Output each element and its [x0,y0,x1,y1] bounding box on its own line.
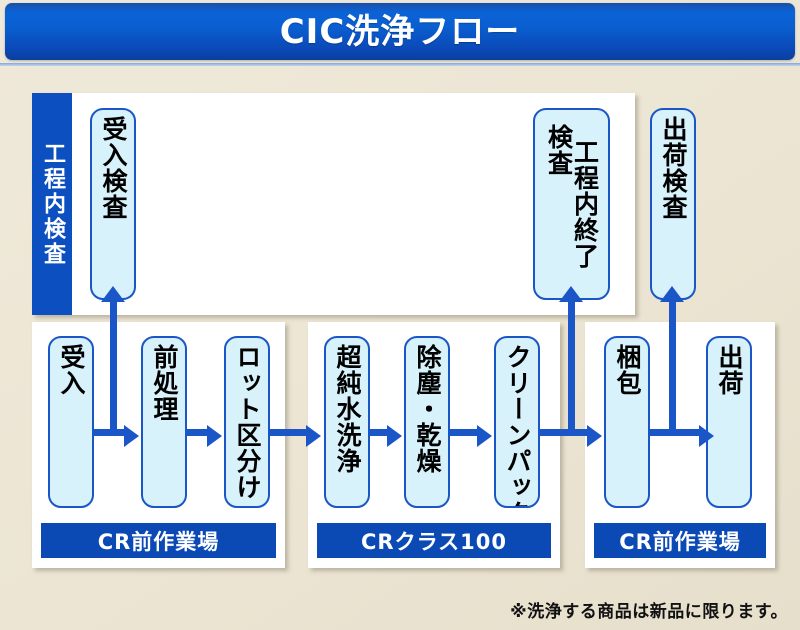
box-process-end-inspection-label-secondary: 検査 [546,110,572,298]
box-clean-pack-label: クリーンパック [504,338,530,506]
arrow-cleanpack-to-packing [587,425,602,447]
box-receiving-inspection-label: 受入検査 [100,110,126,298]
box-receive-label: 受入 [58,338,84,506]
box-clean-pack[interactable]: クリーンパック [494,336,540,508]
connector-up-receiving-inspection [110,300,117,436]
connector-up-process-end-inspection [568,300,575,432]
box-lot-sort-label: ロット区分け [234,338,260,506]
arrow-pretreat-to-lotsort [207,425,222,447]
group-3-footer: CR前作業場 [594,523,766,558]
box-receive[interactable]: 受入 [48,336,94,508]
box-shipping[interactable]: 出荷 [706,336,752,508]
box-dedust-dry-label: 除塵・乾燥 [414,338,440,506]
box-shipping-inspection-label: 出荷検査 [660,110,686,298]
arrow-receive-to-pretreat [124,425,139,447]
box-pretreat[interactable]: 前処理 [141,336,187,508]
title-banner: CIC洗浄フロー [5,3,795,60]
box-dedust-dry[interactable]: 除塵・乾燥 [404,336,450,508]
connector-dedust-to-cleanpack [450,429,479,436]
footnote: ※洗浄する商品は新品に限ります。 [510,597,788,622]
connector-lotsort-to-ultrapure [270,429,308,436]
group-1-footer: CR前作業場 [41,523,276,558]
arrow-dedust-to-cleanpack [477,425,492,447]
box-lot-sort[interactable]: ロット区分け [224,336,270,508]
connector-receive-to-pretreat [94,429,126,436]
box-shipping-inspection[interactable]: 出荷検査 [650,108,696,300]
arrow-up-process-end-inspection [559,286,583,302]
connector-packing-to-shipping [650,429,702,436]
connector-cleanpack-to-packing [540,429,590,436]
box-process-end-inspection[interactable]: 工程内終了 検査 [533,108,610,300]
arrow-up-shipping-inspection [660,286,684,302]
box-pretreat-label: 前処理 [151,338,177,506]
inspection-section-caption: 工程内検査 [32,93,72,315]
connector-up-shipping-inspection [669,300,676,432]
box-packing-label: 梱包 [614,338,640,506]
connector-pretreat-to-lotsort [187,429,209,436]
box-packing[interactable]: 梱包 [604,336,650,508]
box-ultrapure-wash[interactable]: 超純水洗浄 [324,336,370,508]
box-process-end-inspection-label-primary: 工程内終了 [572,110,598,298]
box-shipping-label: 出荷 [716,338,742,506]
arrow-packing-to-shipping [699,425,714,447]
box-ultrapure-wash-label: 超純水洗浄 [334,338,360,506]
banner-underline [0,63,800,66]
box-receiving-inspection[interactable]: 受入検査 [90,108,136,300]
diagram-canvas: CIC洗浄フロー 工程内検査 受入検査 工程内終了 検査 出荷検査 受入 前処理… [0,0,800,630]
arrow-up-receiving-inspection [101,286,125,302]
arrow-lotsort-to-ultrapure [306,425,321,447]
arrow-ultrapure-to-dedust [387,425,402,447]
page-title: CIC洗浄フロー [280,15,521,49]
group-2-footer: CRクラス100 [317,523,551,558]
